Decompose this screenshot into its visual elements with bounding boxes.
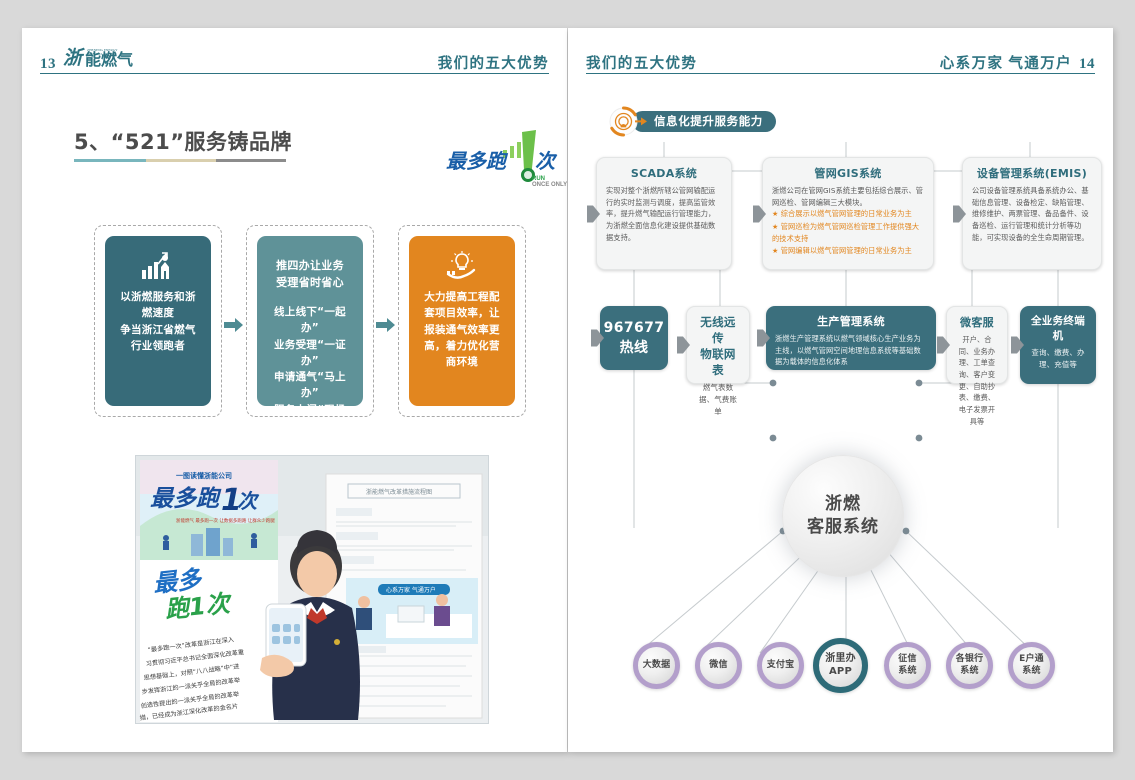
flow-step-2-sub-2: 业务受理“一证办” [266,337,354,370]
system-card-terminal-body: 查询、缴费、办理、充值等 [1029,347,1087,371]
channel-bubble-credit[interactable]: 征信 系统 [884,642,931,689]
right-running-title-left: 我们的五大优势 [586,52,697,73]
svg-text:心系万家 气通万户: 心系万家 气通万户 [386,586,436,594]
hub-line-1: 浙燃 [825,493,861,516]
node-nub-icon [753,205,766,222]
title-underline [74,159,286,162]
flow-step-3: 大力提高工程配 套项目效率，让 报装通气效率更 高，着力优化营 商环境 [398,225,526,417]
hub-circle: 浙燃 客服系统 [782,455,904,577]
right-page-header: 我们的五大优势 心系万家 气通万户 14 [586,48,1095,74]
system-card-production-body: 浙燃生产管理系统以燃气领域核心生产业务为主线，以燃气管网空间地理信息系统等基础数… [775,333,927,368]
svg-text:CITY GAS CO. LTD: CITY GAS CO. LTD [87,52,116,56]
flow-step-2-sub-1: 线上线下“一起办” [266,304,354,337]
flow-step-2-sub-4: 服务上门“现场办” [266,402,354,435]
right-page-number: 14 [1079,56,1095,73]
right-running-title-right: 心系万家 气通万户 [940,52,1072,73]
system-card-wechat-service[interactable]: 微客服 开户、合同、业务办理、工单查询、客户变更、自助抄表、缴费、电子发票开具等 [946,306,1008,384]
node-nub-icon [1011,337,1024,354]
system-card-gis-body-3: 管网巡检为燃气管网巡检管理工作提供强大的技术支持 [772,221,924,245]
system-card-gis-title: 管网GIS系统 [772,165,924,181]
badge-icon-wrap [608,106,639,137]
svg-text:浙: 浙 [63,47,85,68]
flow-step-2: 推四办让业务 受理省时省心 线上线下“一起办” 业务受理“一证办” 申请通气“马… [246,225,374,417]
flow-step-2-line-1: 推四办让业务 [276,257,344,274]
left-page: 13 浙 能燃气 ZHENENG ENERGY CITY GAS CO. LTD… [22,28,567,752]
zheneng-gas-logo-icon: 浙 能燃气 ZHENENG ENERGY CITY GAS CO. LTD [63,44,155,68]
flow-step-1-line-1: 以浙燃服务和浙 [120,289,196,305]
channel-bubble-ehutong[interactable]: E户通 系统 [1008,642,1055,689]
system-card-scada[interactable]: SCADA系统 实现对整个浙燃所辖公管网输配运行的实时监测与调度，提高监管效率，… [596,157,732,270]
svg-text:次: 次 [237,489,260,513]
system-card-emis[interactable]: 设备管理系统(EMIS) 公司设备管理系统具备系统办公、基础信息管理、设备检定、… [962,157,1102,270]
node-nub-icon [591,330,604,347]
node-nub-icon [587,205,600,222]
left-page-number: 13 [40,56,56,73]
system-card-emis-title: 设备管理系统(EMIS) [972,165,1092,181]
node-nub-icon [953,205,966,222]
channel-label-wechat: 微信 [709,660,727,671]
system-card-emis-body: 公司设备管理系统具备系统办公、基础信息管理、设备检定、缺陷管理、维修维护、两票管… [972,185,1092,243]
svg-text:最多跑: 最多跑 [446,149,509,173]
flow-step-1: 以浙燃服务和浙 燃速度 争当浙江省燃气 行业领跑者 [94,225,222,417]
system-card-production[interactable]: 生产管理系统 浙燃生产管理系统以燃气领域核心生产业务为主线，以燃气管网空间地理信… [766,306,936,370]
service-flow-diagram: 以浙燃服务和浙 燃速度 争当浙江省燃气 行业领跑者 [94,225,534,417]
svg-text:浙能燃气改革措施流程图: 浙能燃气改革措施流程图 [366,488,432,496]
hotline-number: 967677 [604,318,665,338]
badge-label: 信息化提升服务能力 [632,111,776,132]
svg-text:ONCE ONLY: ONCE ONLY [532,182,567,188]
node-nub-icon [757,330,770,347]
lightbulb-hand-icon [442,250,482,282]
flow-step-2-line-2: 受理省时省心 [276,274,344,291]
system-card-hotline[interactable]: 967677 热线 [600,306,668,370]
system-card-wechat-service-title: 微客服 [956,314,998,330]
channel-label-ehutong: E户通 系统 [1019,654,1044,677]
channel-bubble-banks[interactable]: 各银行 系统 [946,642,993,689]
hotline-label: 热线 [604,338,665,358]
service-photo: 一图读懂浙能公司 最多跑 1 次 浙能燃气 最多跑一次 让数据多跑路 让群众少跑… [135,455,489,724]
system-card-terminal[interactable]: 全业务终端机 查询、缴费、办理、充值等 [1020,306,1096,384]
run-once-logo: 最多跑 次 RUN ONCE ONLY [440,128,570,190]
flow-step-1-line-4: 行业领跑者 [131,338,185,354]
channel-label-bigdata: 大数据 [643,660,671,671]
flow-step-1-line-2: 燃速度 [142,305,174,321]
flow-arrow-2-icon [374,318,396,332]
hub-line-2: 客服系统 [807,516,879,539]
flow-step-2-sub-3: 申请通气“马上办” [266,369,354,402]
magazine-spread: 13 浙 能燃气 ZHENENG ENERGY CITY GAS CO. LTD… [0,0,1135,780]
left-running-title: 我们的五大优势 [438,52,549,73]
channel-bubble-bigdata[interactable]: 大数据 [633,642,680,689]
system-card-gis-body-2: 综合展示以燃气管网管理的日常业务为主 [772,208,924,220]
channel-label-banks: 各银行 系统 [956,654,984,677]
company-logo: 浙 能燃气 ZHENENG ENERGY CITY GAS CO. LTD [63,44,155,68]
system-card-gis[interactable]: 管网GIS系统 浙燃公司在管网GIS系统主要包括综合展示、管网巡检、管网编辑三大… [762,157,934,270]
badge-arrow-icon [635,117,647,126]
system-card-iot-meter-body: 燃气表数据、气费账单 [696,382,740,418]
flow-step-3-line-3: 报装通气效率更 [424,322,500,338]
channel-bubble-zhelipan-app[interactable]: 浙里办 APP [813,638,868,693]
channel-bubble-wechat[interactable]: 微信 [695,642,742,689]
left-page-header: 13 浙 能燃气 ZHENENG ENERGY CITY GAS CO. LTD… [40,48,549,74]
system-card-gis-body-1: 浙燃公司在管网GIS系统主要包括综合展示、管网巡检、管网编辑三大模块。 [772,185,924,208]
system-card-iot-meter[interactable]: 无线远传 物联网表 燃气表数据、气费账单 [686,306,750,384]
svg-text:浙能燃气 最多跑一次 让数据多跑路 让群众少跑腿: 浙能燃气 最多跑一次 让数据多跑路 让群众少跑腿 [176,517,275,524]
system-card-terminal-title: 全业务终端机 [1029,313,1087,343]
svg-text:最多跑: 最多跑 [150,486,222,512]
system-card-production-title: 生产管理系统 [775,313,927,329]
section-badge: 信息化提升服务能力 [608,106,776,136]
section-title: 5、“521”服务铸品牌 [74,126,292,161]
system-card-iot-meter-title: 无线远传 物联网表 [696,314,740,378]
channel-label-alipay: 支付宝 [767,660,795,671]
channel-bubble-alipay[interactable]: 支付宝 [757,642,804,689]
channel-label-zhelipan-app: 浙里办 APP [825,653,856,678]
system-card-gis-body-4: 管网编辑以燃气管网管理的日常业务为主 [772,245,924,257]
node-nub-icon [677,337,690,354]
svg-text:次: 次 [535,149,558,173]
flow-arrow-1-icon [222,318,244,332]
system-card-scada-title: SCADA系统 [606,165,722,181]
svg-text:一图读懂浙能公司: 一图读懂浙能公司 [176,471,232,480]
system-card-scada-body: 实现对整个浙燃所辖公管网输配运行的实时监测与调度，提高监管效率，提升燃气输配运行… [606,185,722,243]
growth-chart-icon [138,250,178,282]
channel-label-credit: 征信 系统 [898,654,916,677]
flow-step-1-line-3: 争当浙江省燃气 [120,322,196,338]
flow-step-3-line-2: 套项目效率，让 [424,305,500,321]
system-card-wechat-service-body: 开户、合同、业务办理、工单查询、客户变更、自助抄表、缴费、电子发票开具等 [956,334,998,427]
flow-step-3-line-5: 商环境 [446,354,478,370]
node-nub-icon [937,337,950,354]
flow-step-3-line-4: 高，着力优化营 [424,338,500,354]
flow-step-3-line-1: 大力提高工程配 [424,289,500,305]
